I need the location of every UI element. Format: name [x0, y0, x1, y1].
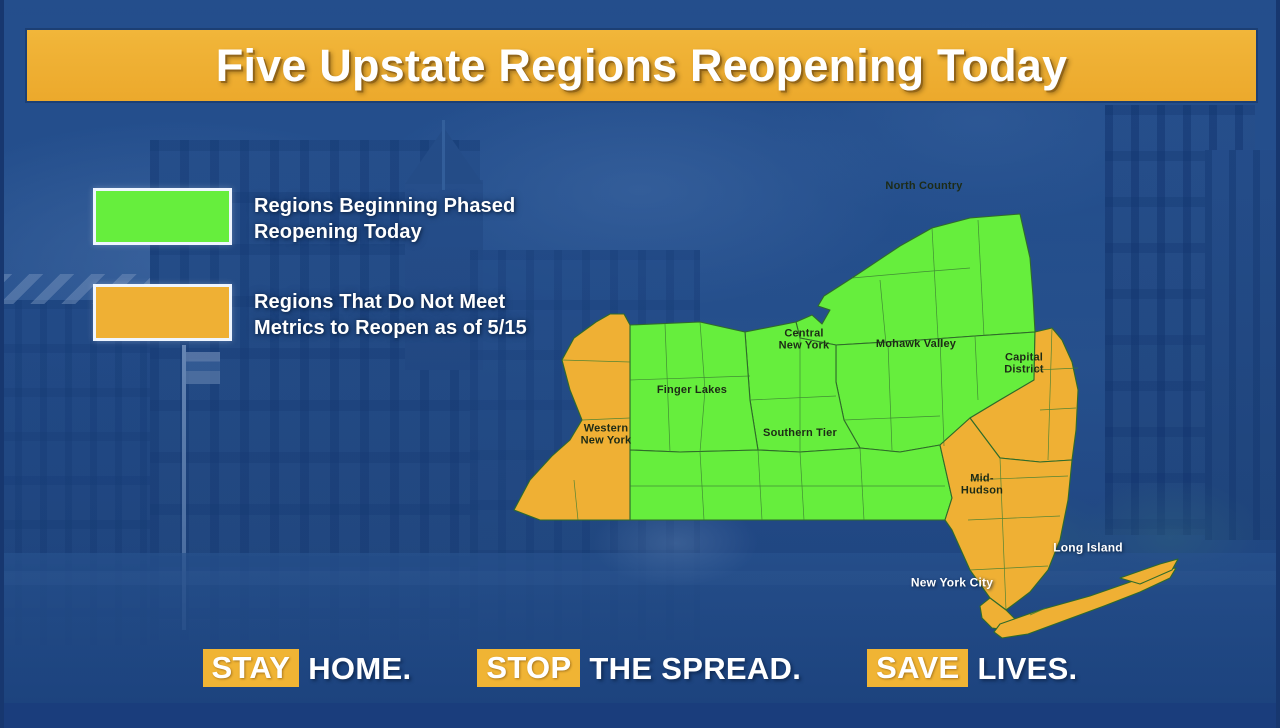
legend-swatch-green — [93, 188, 232, 245]
slogan-highlight-stay: STAY — [203, 649, 300, 687]
map-region-finger-lakes — [630, 322, 758, 452]
new-york-state-map: North Country Finger Lakes Central New Y… — [500, 100, 1220, 645]
map-long-island-north-fork — [1120, 559, 1178, 584]
map-region-north-country — [796, 214, 1035, 345]
slogan-item-stop-spread: STOP THE SPREAD. — [477, 649, 801, 687]
slogan-highlight-stop: STOP — [477, 649, 580, 687]
slogan-item-stay-home: STAY HOME. — [203, 649, 412, 687]
legend-item-orange: Regions That Do Not Meet Metrics to Reop… — [93, 284, 563, 342]
legend-label-green: Regions Beginning Phased Reopening Today — [254, 188, 515, 246]
slogan-highlight-save: SAVE — [867, 649, 968, 687]
public-health-slogan: STAY HOME. STOP THE SPREAD. SAVE LIVES. — [0, 649, 1280, 687]
page-title: Five Upstate Regions Reopening Today — [216, 40, 1067, 92]
map-region-southern-tier — [630, 445, 952, 520]
title-banner: Five Upstate Regions Reopening Today — [25, 28, 1258, 103]
legend-swatch-orange — [93, 284, 232, 341]
slogan-text-lives: LIVES. — [977, 653, 1077, 684]
slogan-text-the-spread: THE SPREAD. — [589, 653, 801, 684]
legend: Regions Beginning Phased Reopening Today… — [93, 188, 563, 380]
bottom-bar — [0, 703, 1280, 728]
map-region-western-new-york — [514, 314, 630, 520]
legend-label-orange: Regions That Do Not Meet Metrics to Reop… — [254, 284, 527, 342]
legend-item-green: Regions Beginning Phased Reopening Today — [93, 188, 563, 246]
broadcast-graphic: Five Upstate Regions Reopening Today Reg… — [0, 0, 1280, 728]
slogan-item-save-lives: SAVE LIVES. — [867, 649, 1077, 687]
slogan-text-home: HOME. — [308, 653, 411, 684]
map-svg — [500, 100, 1220, 645]
